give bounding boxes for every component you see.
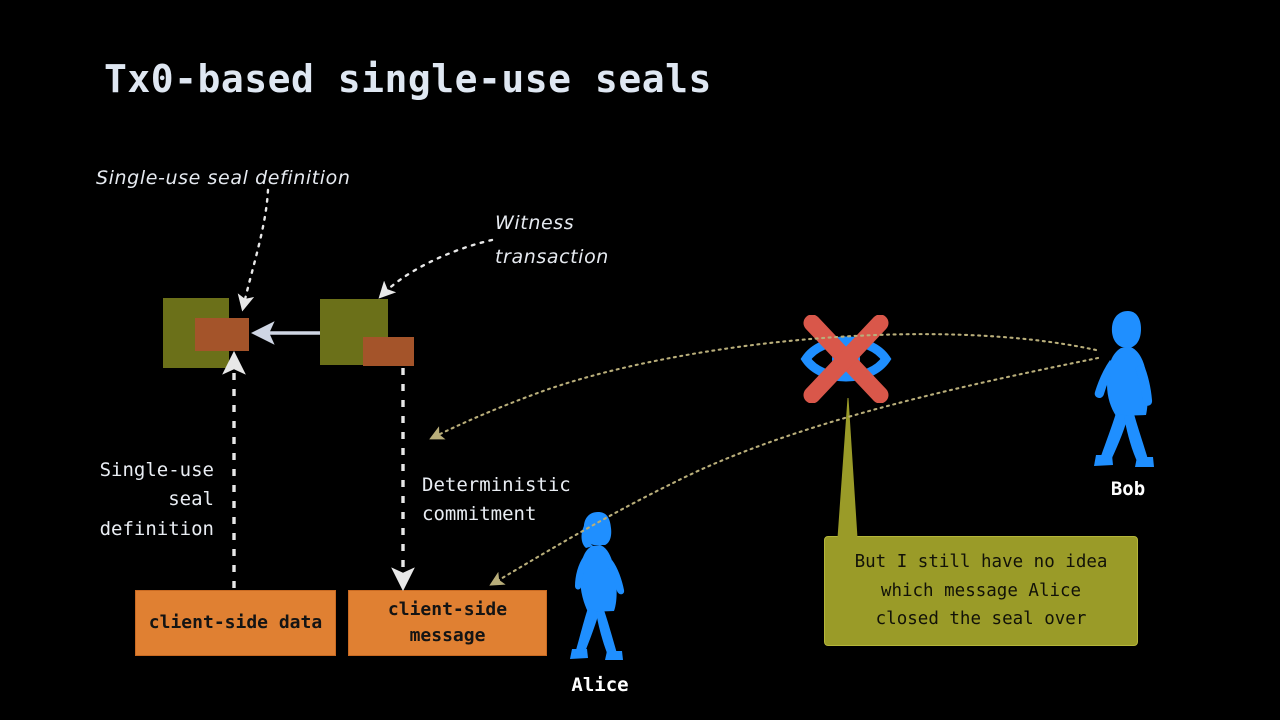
observation-blocked-group bbox=[798, 315, 894, 403]
alice-label: Alice bbox=[540, 674, 660, 696]
alice-figure bbox=[562, 508, 642, 668]
seal-definition-transaction-output bbox=[195, 318, 249, 351]
bob-figure bbox=[1090, 308, 1170, 474]
red-x-icon bbox=[812, 323, 880, 395]
slide-canvas: Tx0-based single-use seals Single-use se… bbox=[0, 0, 1280, 720]
caption-deterministic-commitment: Deterministic commitment bbox=[422, 471, 571, 530]
bob-sightline-witness bbox=[432, 334, 1096, 438]
bob-speech-bubble: But I still have no idea which message A… bbox=[824, 536, 1138, 646]
client-side-message-box: client-side message bbox=[348, 590, 547, 656]
annotation-witness-transaction: Witness transaction bbox=[495, 206, 609, 274]
leader-line-witness-transaction bbox=[381, 240, 492, 296]
speech-bubble-tail bbox=[838, 398, 857, 538]
caption-single-use-seal-definition: Single-use seal definition bbox=[64, 456, 214, 544]
leader-line-seal-definition bbox=[243, 190, 268, 308]
witness-transaction-output bbox=[363, 337, 414, 366]
client-side-data-box: client-side data bbox=[135, 590, 336, 656]
annotation-single-use-seal-definition: Single-use seal definition bbox=[96, 161, 351, 195]
page-title: Tx0-based single-use seals bbox=[104, 57, 712, 101]
bob-label: Bob bbox=[1068, 478, 1188, 500]
